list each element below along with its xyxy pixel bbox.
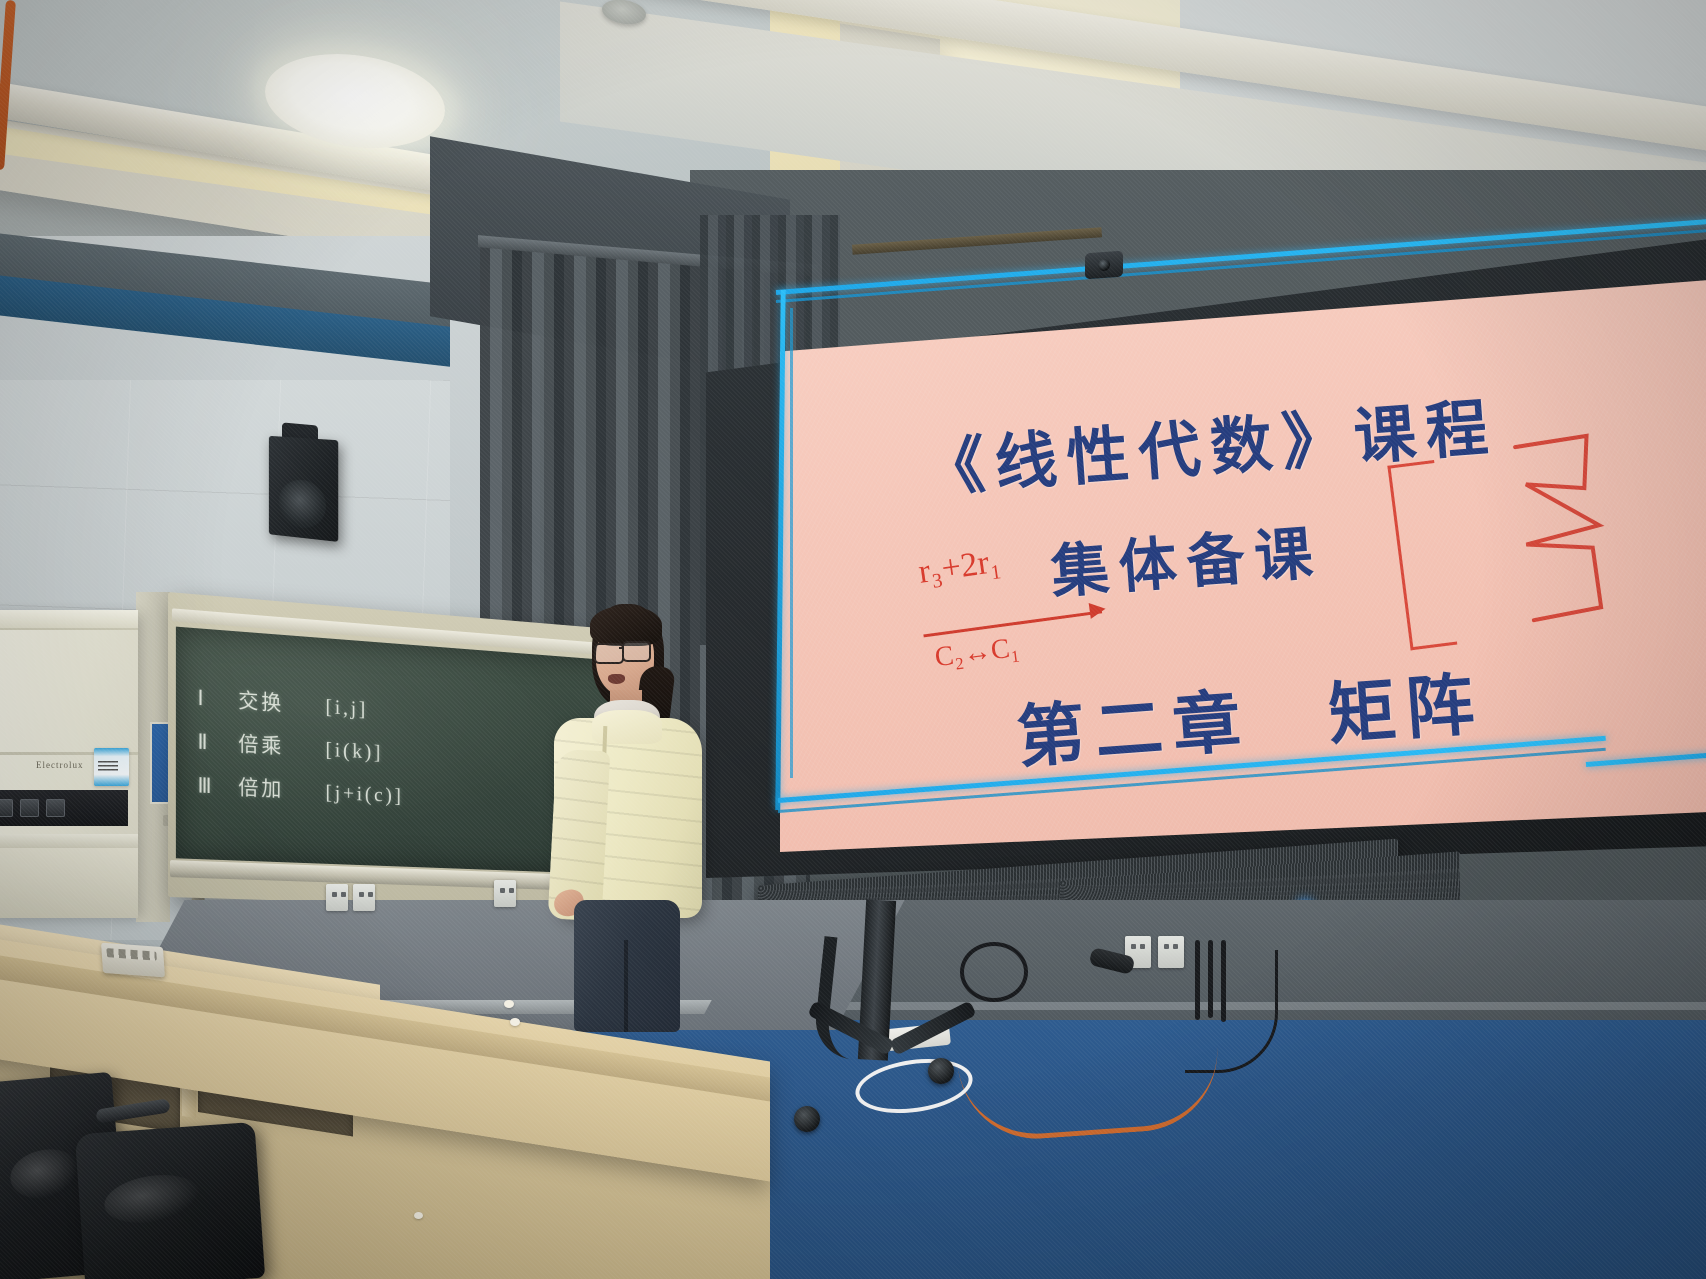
- blackboard-operation: 倍加: [238, 772, 325, 806]
- ac-power-button[interactable]: [0, 799, 13, 817]
- air-conditioner-base: [0, 834, 138, 848]
- cable-coil: [960, 942, 1028, 1002]
- power-outlet[interactable]: [1158, 936, 1184, 968]
- blackboard-notation: [i,j]: [325, 695, 368, 721]
- top-camera-icon: [1085, 251, 1123, 280]
- annotation-column-operation: C₂↔C₁: [933, 632, 1021, 674]
- power-outlet[interactable]: [353, 884, 375, 911]
- air-conditioner-grill: [0, 848, 138, 918]
- ac-mode-button[interactable]: [20, 799, 39, 817]
- stand-caster-wheel: [794, 1106, 820, 1132]
- eyeglasses-icon: [622, 641, 651, 662]
- blackboard-notation: [i(k)]: [325, 737, 383, 764]
- power-outlet[interactable]: [326, 884, 348, 911]
- mouth: [608, 674, 625, 684]
- air-conditioner-top-vent: [0, 610, 138, 630]
- ac-fan-button[interactable]: [46, 799, 65, 817]
- debris-speck: [504, 1000, 514, 1008]
- energy-label-sticker: [94, 748, 129, 786]
- blackboard-numeral: Ⅲ: [197, 774, 238, 801]
- eyeglasses-bridge: [619, 647, 624, 649]
- blackboard-notation: [j+i(c)]: [325, 780, 403, 807]
- annotation-scribble-icon: [1500, 426, 1624, 634]
- hair-fringe: [590, 606, 662, 646]
- presenting-teacher: [532, 600, 712, 1030]
- air-conditioner-brand-label: Electrolux: [36, 760, 146, 770]
- air-conditioner-control-panel[interactable]: [0, 790, 128, 826]
- debris-speck: [414, 1212, 423, 1219]
- annotation-matrix-bracket: [1387, 460, 1457, 650]
- blackboard-operation: 交换: [238, 685, 325, 720]
- blackboard-numeral: Ⅱ: [197, 730, 238, 757]
- stand-caster-wheel: [928, 1058, 954, 1084]
- debris-speck: [510, 1018, 520, 1026]
- slide-title-line2: 集体备课: [1048, 506, 1325, 610]
- annotation-row-operation: r₃+2r₁: [916, 542, 1003, 591]
- slide-chapter-line: 第二章 矩阵: [1013, 648, 1487, 781]
- classroom-photo: Electrolux Ⅰ交换[i,j] Ⅱ倍乘[i(k)] Ⅲ倍加[j+i(c)…: [0, 0, 1706, 1279]
- blackboard-operation: 倍乘: [238, 728, 325, 762]
- display-screen[interactable]: 《线性代数》课程 集体备课 第二章 矩阵 r₃+2r₁ C₂↔C₁: [780, 280, 1706, 852]
- slide-content: 《线性代数》课程 集体备课 第二章 矩阵 r₃+2r₁ C₂↔C₁: [780, 280, 1706, 852]
- blackboard-row-3: Ⅲ倍加[j+i(c)]: [197, 770, 403, 810]
- interactive-flat-panel[interactable]: 《线性代数》课程 集体备课 第二章 矩阵 r₃+2r₁ C₂↔C₁: [706, 238, 1706, 918]
- blackboard-row-2: Ⅱ倍乘[i(k)]: [197, 726, 383, 766]
- trouser-seam: [624, 940, 628, 1032]
- blackboard-numeral: Ⅰ: [197, 686, 238, 713]
- power-outlet[interactable]: [494, 880, 516, 907]
- wall-speaker-icon: [269, 436, 338, 542]
- blackboard-row-1: Ⅰ交换[i,j]: [197, 682, 368, 723]
- desk-phone[interactable]: [101, 943, 165, 978]
